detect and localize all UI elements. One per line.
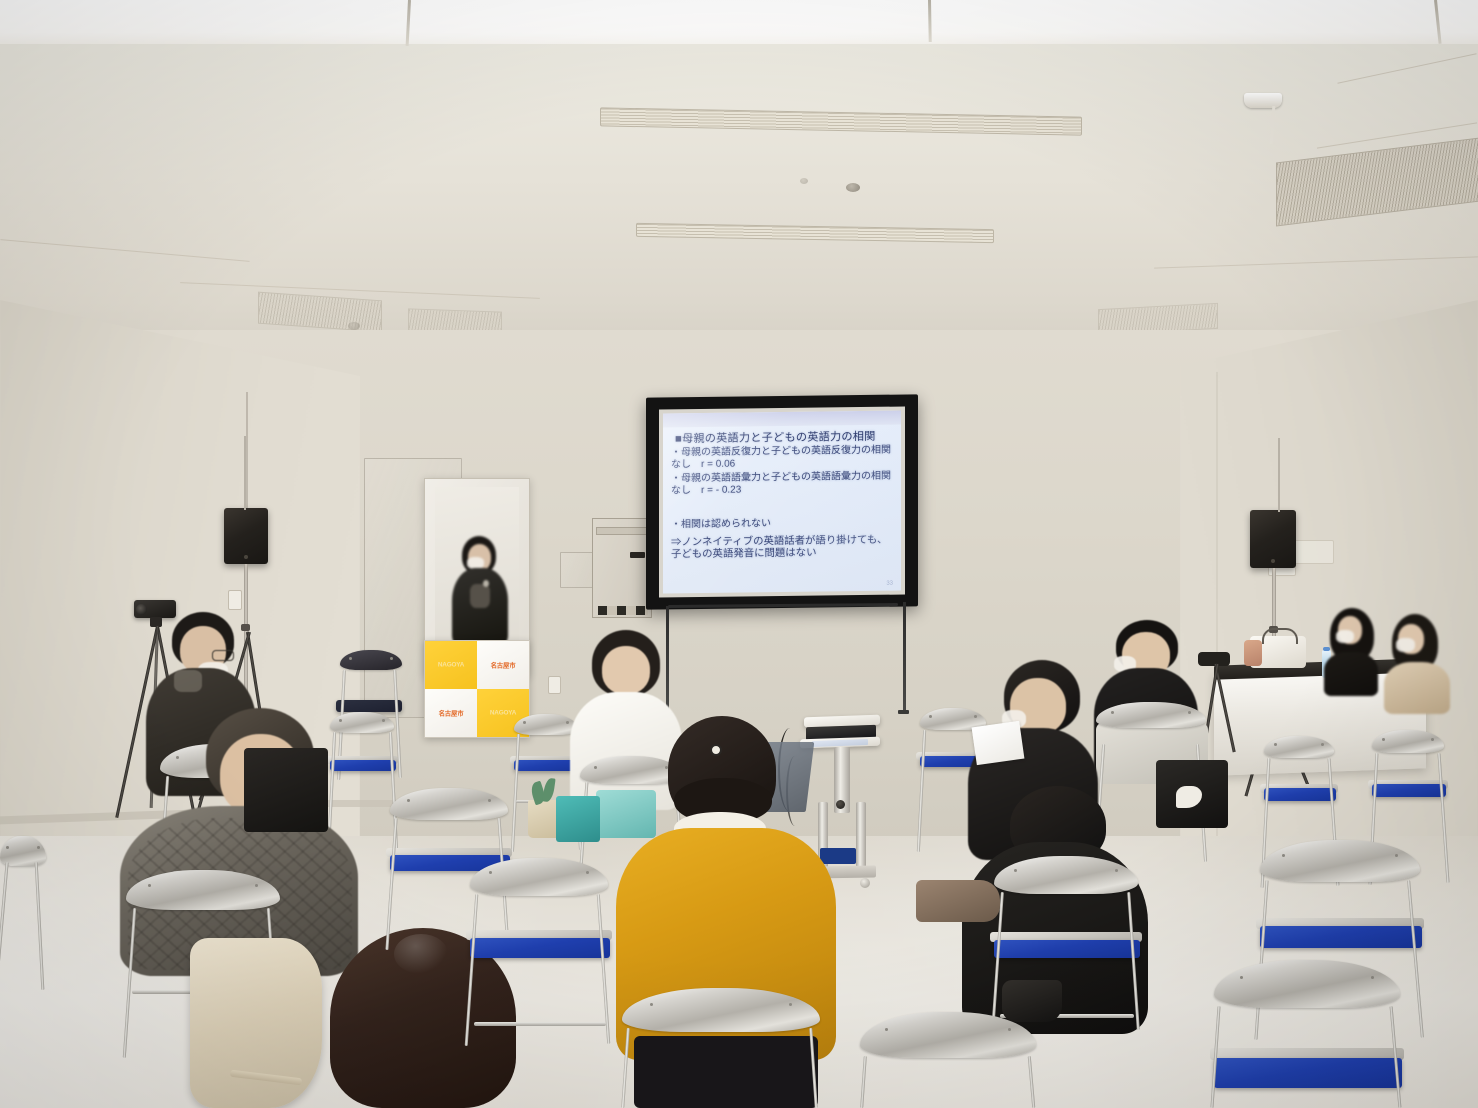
ceiling-speaker-dome — [846, 183, 860, 192]
cabinet-lip — [596, 527, 649, 535]
slide-title: ■母親の英語力と子どもの英語力の相関 — [675, 428, 891, 447]
handout-paper — [972, 721, 1025, 765]
screen-foot — [898, 710, 909, 714]
lecture-room-photo: ■母親の英語力と子どもの英語力の相関 ・母親の英語反復力と子どもの英語反復力の相… — [0, 0, 1478, 1108]
wall-access-panel[interactable] — [560, 552, 594, 588]
wall-outlet-plate — [228, 590, 242, 610]
shoe — [916, 880, 1000, 922]
ceiling-fixture — [348, 322, 360, 330]
slide-page-number: 33 — [886, 581, 893, 587]
presenter-at-lectern — [450, 536, 508, 644]
cart-leg — [856, 802, 866, 872]
wall-outlet-plate — [548, 676, 561, 694]
projection-screen: ■母親の英語力と子どもの英語力の相関 ・母親の英語反復力と子どもの英語反復力の相… — [646, 394, 918, 609]
beige-coat-on-chair — [190, 938, 322, 1108]
cabinet-label-slot — [630, 552, 645, 558]
cart-caster — [860, 878, 870, 888]
backpack — [244, 748, 328, 832]
slide-conclusion-bullet: ・相関は認められない — [671, 517, 895, 532]
eyeglasses-icon — [212, 650, 234, 661]
screen-surface: ■母親の英語力と子どもの英語力の相関 ・母親の英語反復力と子どもの英語反復力の相… — [659, 406, 905, 597]
skirt — [634, 1036, 818, 1108]
cabinet-feet — [598, 606, 648, 615]
wall-sign — [1290, 540, 1334, 564]
staff-woman-dark-coat — [1322, 608, 1380, 688]
banner-cell: 名古屋市 — [477, 641, 529, 689]
slide-conclusion-arrow: ⇒ノンネイティブの英語話者が語り掛けても、子どもの英語発音に問題はない — [671, 535, 895, 563]
teal-bag — [556, 796, 600, 842]
man-in-grey-check-jacket — [120, 708, 358, 968]
bag-handle — [1262, 628, 1298, 644]
ceiling-sprinkler-head — [1244, 93, 1282, 108]
slide-bullet-1: ・母親の英語反復力と子どもの英語反復力の相関なし r = 0.06 — [671, 445, 895, 473]
speaker-cable — [244, 436, 246, 510]
wall-speaker — [1250, 510, 1296, 568]
shoe — [1002, 980, 1062, 1022]
sponsor-banner: NAGOYA 名古屋市 名古屋市 NAGOYA — [424, 640, 530, 738]
wall-utility-cabinet[interactable] — [592, 518, 652, 618]
speaker-cable — [1278, 438, 1280, 512]
hair-clip — [710, 744, 722, 756]
ceiling-fixture — [800, 178, 808, 184]
slide-bullet-2: ・母親の英語語彙力と子どもの英語語彙力の相関なし r = - 0.23 — [671, 471, 895, 499]
slide-header-band — [663, 411, 901, 428]
presentation-slide: ■母親の英語力と子どもの英語力の相関 ・母親の英語反復力と子どもの英語反復力の相… — [663, 411, 901, 594]
staff-woman-beige-jacket — [1384, 614, 1450, 700]
screen-support-leg — [903, 602, 906, 714]
woman-in-yellow-cardigan — [612, 716, 840, 1108]
banner-cell: 名古屋市 — [425, 689, 477, 737]
handbag — [1244, 640, 1262, 666]
wall-speaker — [224, 508, 268, 564]
lectern: NAGOYA 名古屋市 名古屋市 NAGOYA — [424, 478, 528, 736]
banner-cell: NAGOYA — [425, 641, 477, 689]
